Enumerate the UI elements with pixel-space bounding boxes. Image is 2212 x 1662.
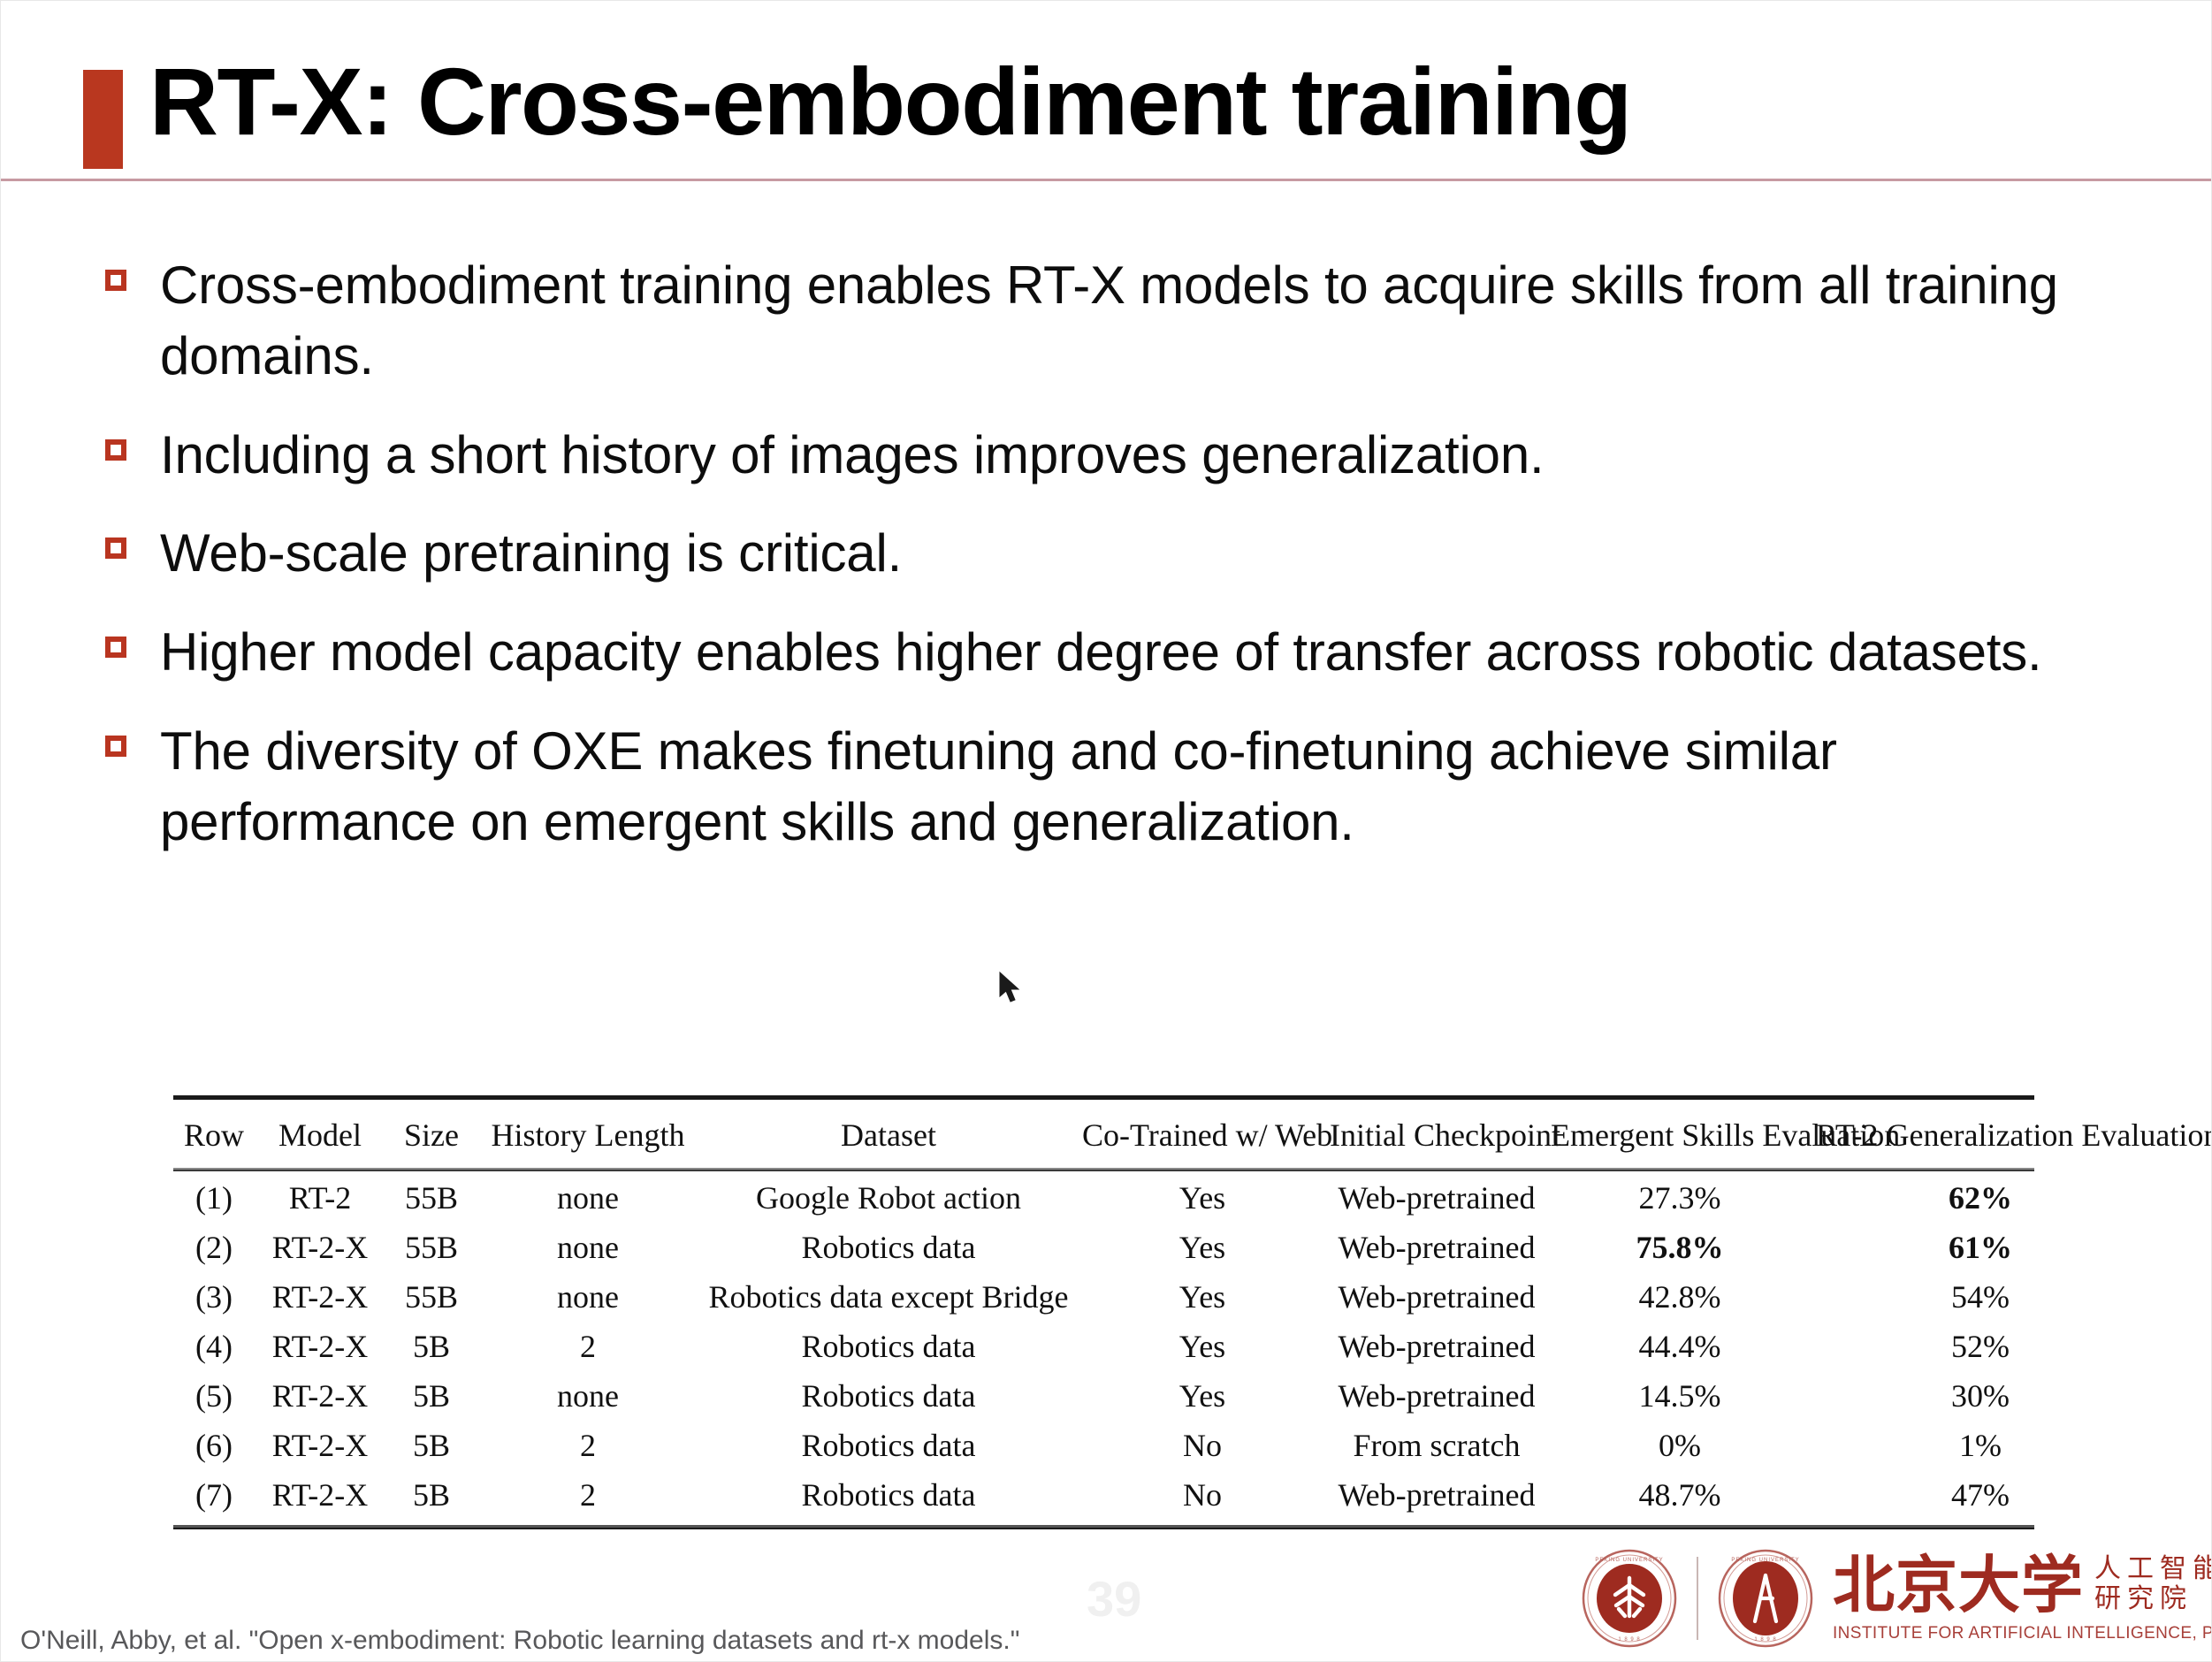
table-row: (1) RT-2 55B none Google Robot action Ye…: [173, 1173, 2148, 1223]
cell-row: (1): [173, 1173, 255, 1223]
peking-university-seal-icon: PEKING UNIVERSITY 1 8 9 8: [1580, 1549, 1679, 1648]
column-header-emergent-skills: Emergent Skills Evaluation: [1547, 1102, 1812, 1168]
bullet-text: Web-scale pretraining is critical.: [160, 518, 2105, 589]
cell-cotrained: Yes: [1079, 1371, 1326, 1421]
table-row: (4) RT-2-X 5B 2 Robotics data Yes Web-pr…: [173, 1322, 2148, 1371]
wordmark-chinese-sub-line2: 研究院: [2094, 1584, 2212, 1615]
logo-divider: [1697, 1557, 1698, 1640]
column-header-initial-checkpoint: Initial Checkpoint: [1326, 1102, 1547, 1168]
cell-dataset: Robotics data: [698, 1470, 1079, 1520]
square-bullet-icon: [105, 736, 126, 757]
bullet-text: Including a short history of images impr…: [160, 420, 2105, 491]
cell-generalization: 54%: [1812, 1272, 2148, 1322]
cell-dataset: Robotics data except Bridge: [698, 1272, 1079, 1322]
table-body: (1) RT-2 55B none Google Robot action Ye…: [173, 1173, 2148, 1520]
cell-dataset: Robotics data: [698, 1223, 1079, 1272]
cell-emergent: 42.8%: [1547, 1272, 1812, 1322]
cell-model: RT-2-X: [255, 1421, 385, 1470]
cell-size: 5B: [385, 1470, 477, 1520]
list-item: The diversity of OXE makes finetuning an…: [105, 716, 2156, 858]
cell-history: 2: [477, 1421, 698, 1470]
cell-cotrained: Yes: [1079, 1272, 1326, 1322]
cell-size: 55B: [385, 1223, 477, 1272]
cell-model: RT-2-X: [255, 1223, 385, 1272]
cell-checkpoint: Web-pretrained: [1326, 1173, 1547, 1223]
table-row: (6) RT-2-X 5B 2 Robotics data No From sc…: [173, 1421, 2148, 1470]
cell-history: none: [477, 1223, 698, 1272]
wordmark-row: 北京大学 人工智能 研究院: [1833, 1554, 2212, 1617]
results-table: Row Model Size History Length Dataset Co…: [173, 1095, 2034, 1529]
square-bullet-icon: [105, 439, 126, 461]
list-item: Web-scale pretraining is critical.: [105, 518, 2156, 589]
cell-size: 5B: [385, 1421, 477, 1470]
cell-generalization: 61%: [1812, 1223, 2148, 1272]
list-item: Cross-embodiment training enables RT-X m…: [105, 250, 2156, 392]
cell-checkpoint: Web-pretrained: [1326, 1470, 1547, 1520]
table-row: (3) RT-2-X 55B none Robotics data except…: [173, 1272, 2148, 1322]
square-bullet-icon: [105, 270, 126, 291]
list-item: Including a short history of images impr…: [105, 420, 2156, 491]
cell-size: 5B: [385, 1371, 477, 1421]
column-header-model: Model: [255, 1102, 385, 1168]
cell-history: none: [477, 1173, 698, 1223]
cell-size: 5B: [385, 1322, 477, 1371]
square-bullet-icon: [105, 537, 126, 559]
table-rule-top: [173, 1095, 2034, 1102]
wordmark-english: INSTITUTE FOR ARTIFICIAL INTELLIGENCE, P…: [1833, 1624, 2212, 1643]
cell-history: none: [477, 1272, 698, 1322]
mouse-cursor-icon: [999, 972, 1022, 1005]
page-title: RT-X: Cross-embodiment training: [149, 45, 1631, 157]
cell-model: RT-2: [255, 1173, 385, 1223]
cell-row: (5): [173, 1371, 255, 1421]
wordmark-chinese-sub-line1: 人工智能: [2094, 1554, 2212, 1585]
column-header-row: Row: [173, 1102, 255, 1168]
cell-cotrained: No: [1079, 1421, 1326, 1470]
cell-dataset: Robotics data: [698, 1421, 1079, 1470]
svg-text:PEKING UNIVERSITY: PEKING UNIVERSITY: [1731, 1558, 1799, 1563]
cell-cotrained: No: [1079, 1470, 1326, 1520]
table-rule-bottom: [173, 1525, 2034, 1529]
cell-history: 2: [477, 1322, 698, 1371]
cell-checkpoint: Web-pretrained: [1326, 1371, 1547, 1421]
bullet-text: Cross-embodiment training enables RT-X m…: [160, 250, 2105, 392]
slide: RT-X: Cross-embodiment training Cross-em…: [0, 0, 2212, 1662]
cell-emergent: 0%: [1547, 1421, 1812, 1470]
cell-generalization: 52%: [1812, 1322, 2148, 1371]
bullet-text: The diversity of OXE makes finetuning an…: [160, 716, 2105, 858]
svg-text:PEKING UNIVERSITY: PEKING UNIVERSITY: [1595, 1558, 1663, 1563]
column-header-dataset: Dataset: [698, 1102, 1079, 1168]
page-number: 39: [1087, 1570, 1141, 1628]
cell-dataset: Robotics data: [698, 1322, 1079, 1371]
cell-row: (4): [173, 1322, 255, 1371]
wordmark-chinese-main: 北京大学: [1833, 1558, 2084, 1617]
cell-dataset: Google Robot action: [698, 1173, 1079, 1223]
svg-text:1 8 9 8: 1 8 9 8: [1754, 1637, 1776, 1643]
column-header-co-trained: Co-Trained w/ Web: [1079, 1102, 1326, 1168]
cell-model: RT-2-X: [255, 1371, 385, 1421]
cell-cotrained: Yes: [1079, 1322, 1326, 1371]
cell-size: 55B: [385, 1173, 477, 1223]
cell-checkpoint: Web-pretrained: [1326, 1322, 1547, 1371]
bullet-list: Cross-embodiment training enables RT-X m…: [105, 250, 2156, 886]
cell-generalization: 62%: [1812, 1173, 2148, 1223]
table-header-row: Row Model Size History Length Dataset Co…: [173, 1102, 2148, 1168]
cell-emergent: 14.5%: [1547, 1371, 1812, 1421]
cell-model: RT-2-X: [255, 1322, 385, 1371]
cell-emergent: 27.3%: [1547, 1173, 1812, 1223]
title-accent-bar: [83, 70, 123, 169]
cell-row: (7): [173, 1470, 255, 1520]
column-header-size: Size: [385, 1102, 477, 1168]
cell-emergent: 75.8%: [1547, 1223, 1812, 1272]
table-row: (5) RT-2-X 5B none Robotics data Yes Web…: [173, 1371, 2148, 1421]
title-divider: [1, 179, 2212, 181]
citation-text: O'Neill, Abby, et al. "Open x-embodiment…: [20, 1626, 1019, 1656]
table-row: (2) RT-2-X 55B none Robotics data Yes We…: [173, 1223, 2148, 1272]
column-header-history-length: History Length: [477, 1102, 698, 1168]
cell-row: (6): [173, 1421, 255, 1470]
cell-model: RT-2-X: [255, 1272, 385, 1322]
square-bullet-icon: [105, 637, 126, 658]
cell-row: (3): [173, 1272, 255, 1322]
cell-checkpoint: Web-pretrained: [1326, 1223, 1547, 1272]
logo-lockup: PEKING UNIVERSITY 1 8 9 8 PEKING UNIVERS…: [1580, 1546, 2212, 1651]
wordmark-chinese-sub: 人工智能 研究院: [2094, 1554, 2212, 1615]
cell-checkpoint: Web-pretrained: [1326, 1272, 1547, 1322]
cell-size: 55B: [385, 1272, 477, 1322]
cell-checkpoint: From scratch: [1326, 1421, 1547, 1470]
cell-generalization: 47%: [1812, 1470, 2148, 1520]
cell-cotrained: Yes: [1079, 1173, 1326, 1223]
cell-generalization: 30%: [1812, 1371, 2148, 1421]
logo-wordmark: 北京大学 人工智能 研究院 INSTITUTE FOR ARTIFICIAL I…: [1833, 1554, 2212, 1643]
list-item: Higher model capacity enables higher deg…: [105, 617, 2156, 688]
table-row: (7) RT-2-X 5B 2 Robotics data No Web-pre…: [173, 1470, 2148, 1520]
cell-generalization: 1%: [1812, 1421, 2148, 1470]
bullet-text: Higher model capacity enables higher deg…: [160, 617, 2105, 688]
cell-history: 2: [477, 1470, 698, 1520]
institute-seal-icon: PEKING UNIVERSITY 1 8 9 8: [1716, 1549, 1815, 1648]
cell-dataset: Robotics data: [698, 1371, 1079, 1421]
cell-emergent: 48.7%: [1547, 1470, 1812, 1520]
cell-history: none: [477, 1371, 698, 1421]
cell-model: RT-2-X: [255, 1470, 385, 1520]
cell-emergent: 44.4%: [1547, 1322, 1812, 1371]
cell-row: (2): [173, 1223, 255, 1272]
column-header-generalization: RT-2 Generalization Evaluation: [1812, 1102, 2148, 1168]
svg-text:1 8 9 8: 1 8 9 8: [1618, 1637, 1640, 1643]
cell-cotrained: Yes: [1079, 1223, 1326, 1272]
